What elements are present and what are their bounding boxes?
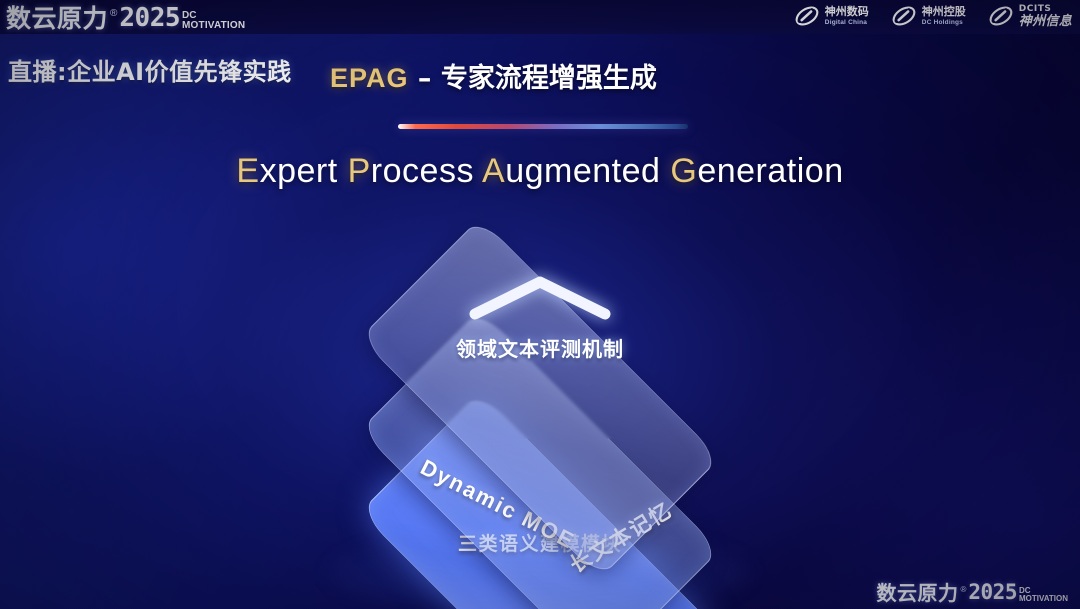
partner-logo-group: 神州数码 Digital China 神州控股 DC Holdings bbox=[794, 3, 1072, 29]
partner-logo-digital-china: 神州数码 Digital China bbox=[794, 3, 869, 29]
partner-name-en: DC Holdings bbox=[922, 19, 966, 26]
partner-logo-dcits: DCITS 神州信息 bbox=[988, 3, 1072, 29]
subtitle-text: rocess bbox=[371, 152, 482, 190]
brand-dc-motivation: DC MOTIVATION bbox=[182, 11, 245, 31]
live-broadcast-label: 直播:企业AI价值先锋实践 bbox=[8, 52, 292, 87]
swoosh-icon bbox=[891, 3, 917, 29]
brand-year: 2025 bbox=[968, 582, 1017, 603]
page-title-accent: EPAG bbox=[330, 63, 409, 93]
partner-logo-text: 神州控股 DC Holdings bbox=[922, 6, 966, 26]
subtitle-text: eneration bbox=[697, 152, 843, 190]
brand-year: 2025 bbox=[119, 5, 180, 31]
subtitle-accent-letter: E bbox=[236, 152, 259, 190]
brand-motivation-label: MOTIVATION bbox=[182, 21, 245, 31]
brand-motivation-label: MOTIVATION bbox=[1019, 595, 1068, 603]
subtitle-accent-letter: P bbox=[348, 152, 371, 190]
chevron-up-icon bbox=[465, 272, 615, 322]
brand-logo-bottom: 数云原力 ® 2025 DC MOTIVATION bbox=[876, 582, 1068, 603]
brand-registered-mark: ® bbox=[110, 9, 117, 19]
partner-name-en: Digital China bbox=[825, 19, 869, 26]
swoosh-icon bbox=[794, 3, 820, 29]
partner-logo-text: DCITS 神州信息 bbox=[1019, 4, 1072, 29]
swoosh-icon bbox=[988, 3, 1014, 29]
subtitle-accent-letter: A bbox=[482, 152, 505, 190]
subtitle: Expert Process Augmented Generation bbox=[0, 152, 1080, 191]
brand-name-cn: 数云原力 bbox=[6, 6, 108, 31]
partner-name-cn: 神州控股 bbox=[922, 6, 966, 18]
partner-name-cn: 神州信息 bbox=[1019, 14, 1072, 29]
subtitle-text: xpert bbox=[260, 152, 348, 190]
brand-name-cn: 数云原力 bbox=[876, 583, 958, 603]
partner-logo-dc-holdings: 神州控股 DC Holdings bbox=[891, 3, 966, 29]
page-title-rest: – 专家流程增强生成 bbox=[409, 63, 657, 94]
brand-registered-mark: ® bbox=[960, 586, 966, 594]
partner-name-cn: 神州数码 bbox=[825, 6, 869, 18]
slide-canvas: 数云原力 ® 2025 DC MOTIVATION 神州数码 Digital C… bbox=[0, 0, 1080, 609]
brand-dc-motivation: DC MOTIVATION bbox=[1019, 587, 1068, 603]
partner-logo-text: 神州数码 Digital China bbox=[825, 6, 869, 26]
subtitle-accent-letter: G bbox=[670, 152, 697, 190]
layered-architecture-diagram: 三类语义建模模块 Dynamic MOE 长文本记忆 领域文本评测机制 bbox=[260, 228, 820, 558]
diagram-layer-top[interactable]: 领域文本评测机制 bbox=[370, 228, 710, 568]
brand-logo-top: 数云原力 ® 2025 DC MOTIVATION bbox=[6, 5, 245, 31]
subtitle-text: ugmented bbox=[505, 152, 670, 190]
diagram-layer-top-label: 领域文本评测机制 bbox=[370, 333, 710, 362]
gradient-divider bbox=[398, 124, 688, 129]
page-title: EPAG – 专家流程增强生成 bbox=[330, 56, 657, 95]
